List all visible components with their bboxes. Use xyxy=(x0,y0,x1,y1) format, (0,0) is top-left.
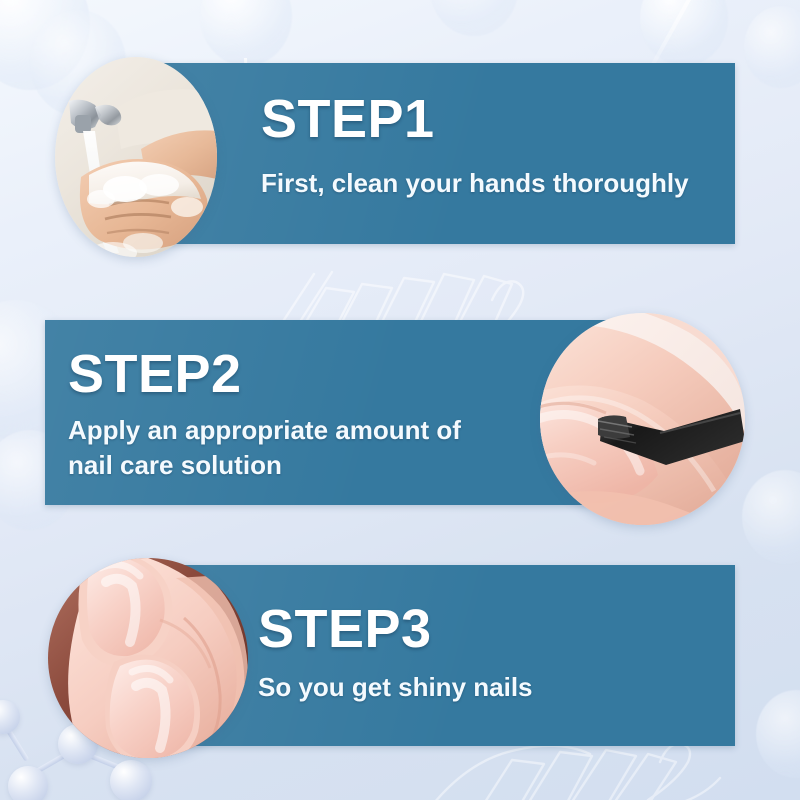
step-3-title: STEP3 xyxy=(258,602,432,656)
step-2-title: STEP2 xyxy=(68,347,242,401)
molecule-bond xyxy=(4,725,29,762)
bubble-shape xyxy=(744,6,800,88)
step-1-description: First, clean your hands thoroughly xyxy=(261,168,731,200)
step-1-title: STEP1 xyxy=(261,92,435,146)
step-2-description-line-1: Apply an appropriate amount of xyxy=(68,415,538,447)
bubble-shape xyxy=(640,0,728,66)
molecule-atom xyxy=(8,766,48,800)
step-3-description: So you get shiny nails xyxy=(258,672,698,704)
instruction-poster: STEP1 First, clean your hands thoroughly xyxy=(0,0,800,800)
step-2-photo xyxy=(540,313,745,525)
step-1-photo xyxy=(55,57,217,257)
step-3-photo xyxy=(48,558,248,758)
step-3-photo-art xyxy=(48,558,248,758)
bubble-shape xyxy=(200,0,292,66)
step-2-photo-art xyxy=(540,313,745,525)
molecule-atom xyxy=(110,760,152,800)
molecule-bond xyxy=(27,742,85,778)
step-1-bar xyxy=(150,63,735,244)
bubble-shape xyxy=(0,0,90,90)
bubble-shape xyxy=(742,470,800,564)
step-1-bar-sheen xyxy=(150,63,735,244)
molecule-atom xyxy=(0,700,20,734)
bubble-shape xyxy=(430,0,518,36)
step-2-description-line-2: nail care solution xyxy=(68,450,538,482)
step-1-photo-art xyxy=(55,57,217,257)
bubble-shape xyxy=(756,690,800,778)
